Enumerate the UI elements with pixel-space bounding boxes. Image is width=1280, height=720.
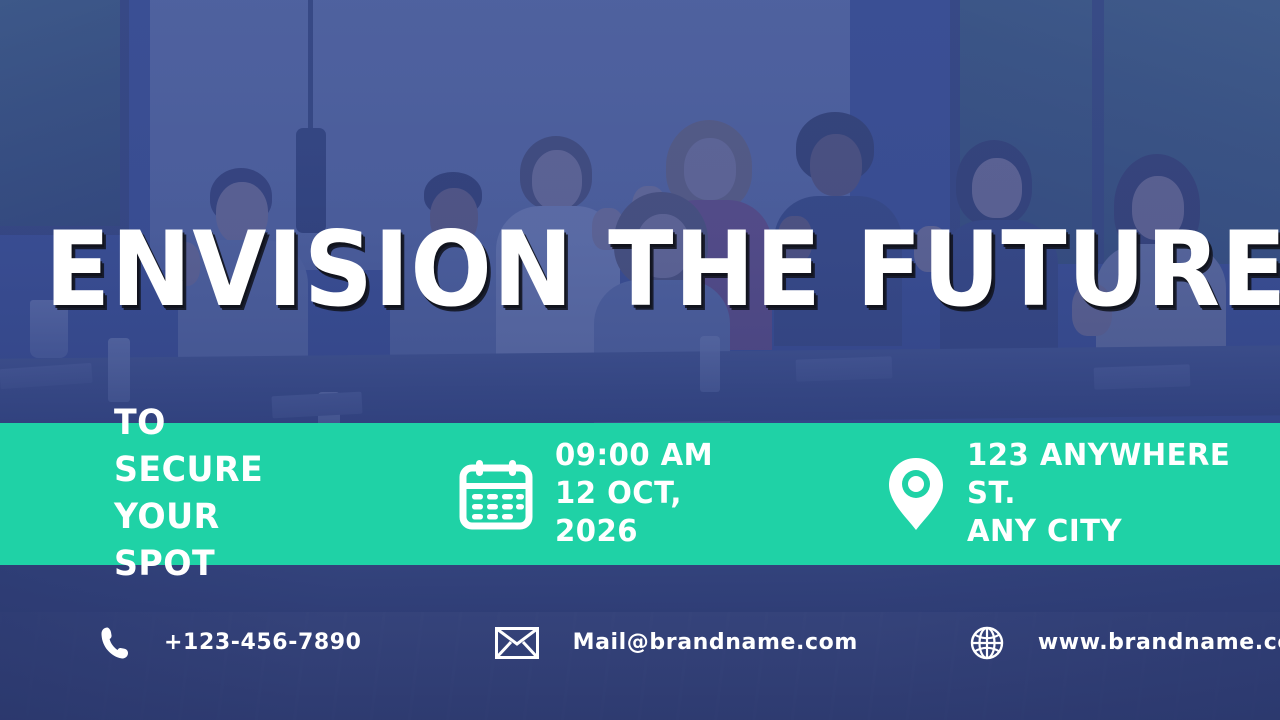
event-banner: ENVISION THE FUTURE TO SECURE YOUR SPOT (0, 0, 1280, 720)
location-pin-icon (887, 456, 945, 532)
banner-title: ENVISION THE FUTURE (45, 214, 1235, 326)
contact-website[interactable]: www.brandname.com (970, 565, 1280, 720)
phone-icon (100, 626, 130, 660)
globe-icon (970, 626, 1004, 660)
contact-email[interactable]: Mail@brandname.com (495, 565, 858, 720)
info-bar: TO SECURE YOUR SPOT (0, 423, 1280, 565)
calendar-icon (459, 458, 533, 530)
envelope-icon (495, 627, 539, 659)
website-label: www.brandname.com (1038, 630, 1280, 655)
address-label: 123 ANYWHERE ST. ANY CITY (967, 437, 1271, 551)
cta-label: TO SECURE YOUR SPOT (114, 400, 322, 588)
email-label: Mail@brandname.com (573, 630, 858, 655)
location-block: 123 ANYWHERE ST. ANY CITY (887, 423, 1280, 565)
contact-bar: +123-456-7890 Mail@brandname.com www.bra… (0, 565, 1280, 720)
phone-label: +123-456-7890 (164, 630, 362, 655)
date-time-label: 09:00 AM 12 OCT, 2026 (555, 437, 760, 551)
contact-phone[interactable]: +123-456-7890 (100, 565, 362, 720)
date-block: 09:00 AM 12 OCT, 2026 (459, 423, 767, 565)
cta-block: TO SECURE YOUR SPOT (114, 423, 333, 565)
